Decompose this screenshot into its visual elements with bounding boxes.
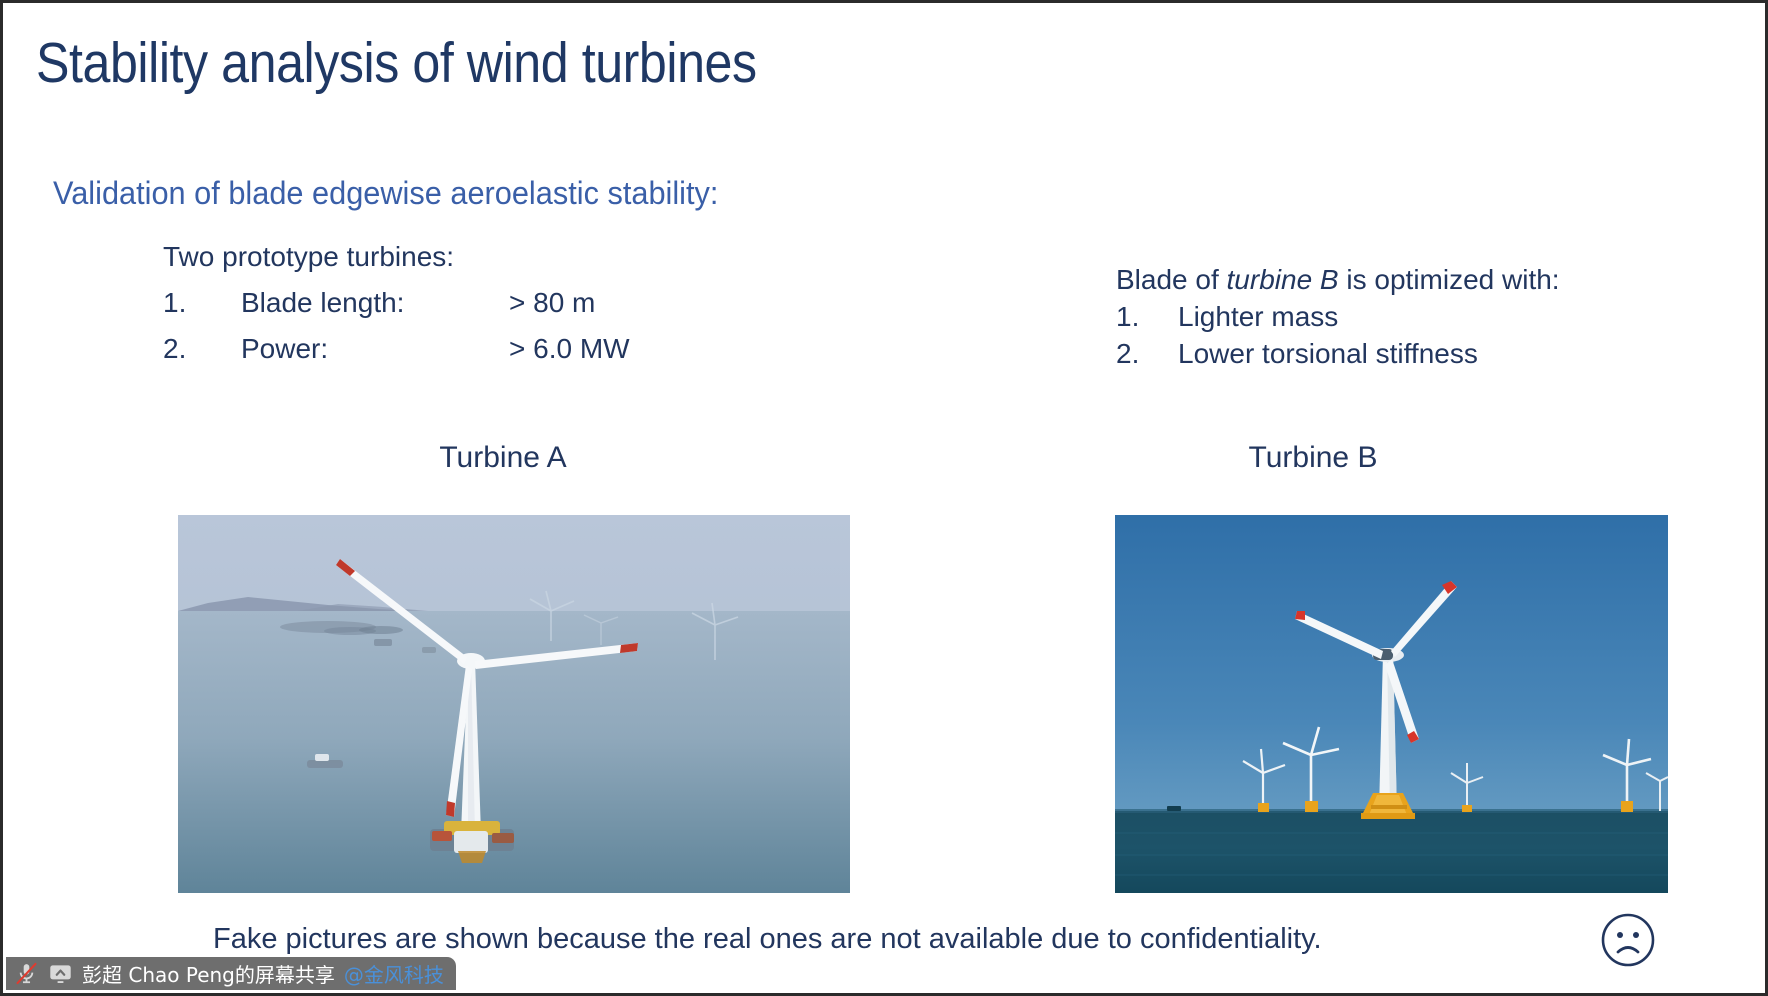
spec-number: 2. (163, 333, 241, 365)
caption-turbine-a: Turbine A (333, 441, 673, 475)
optimization-heading: Blade of turbine B is optimized with: (1116, 261, 1560, 298)
optimization-heading-emphasis: turbine B (1227, 264, 1339, 295)
page-title: Stability analysis of wind turbines (36, 35, 757, 92)
microphone-muted-glyph (14, 961, 39, 986)
spec-number: 1. (163, 287, 241, 319)
optimization-text: Lower torsional stiffness (1178, 335, 1478, 372)
slide-subtitle: Validation of blade edgewise aeroelastic… (53, 175, 718, 212)
shared-screen: Stability analysis of wind turbines Vali… (0, 0, 1768, 996)
optimization-number: 1. (1116, 298, 1178, 335)
optimization-heading-suffix: is optimized with: (1339, 264, 1560, 295)
optimization-text: Lighter mass (1178, 298, 1338, 335)
photo-turbine-b-graphic (1115, 515, 1668, 893)
spec-value: > 80 m (509, 287, 595, 319)
optimization-row: 1. Lighter mass (1116, 298, 1560, 335)
optimization-number: 2. (1116, 335, 1178, 372)
footer-note: Fake pictures are shown because the real… (213, 923, 1322, 956)
spec-row: 1. Blade length: > 80 m (163, 287, 630, 319)
photo-turbine-b (1115, 515, 1668, 893)
spec-label: Blade length: (241, 287, 509, 319)
caption-turbine-b: Turbine B (1143, 441, 1483, 475)
presentation-slide: Stability analysis of wind turbines Vali… (3, 3, 1765, 961)
optimization-block: Blade of turbine B is optimized with: 1.… (1116, 261, 1560, 373)
screen-share-taskbar[interactable]: 彭超 Chao Peng的屏幕共享 @金风科技 (6, 957, 456, 990)
photo-turbine-a-graphic (178, 515, 850, 893)
prototype-spec-block: Two prototype turbines: 1. Blade length:… (163, 241, 630, 365)
photo-turbine-a (178, 515, 850, 893)
screen-share-org-label: @金风科技 (344, 959, 444, 988)
screen-share-glyph (48, 961, 73, 986)
optimization-heading-prefix: Blade of (1116, 264, 1227, 295)
prototype-heading: Two prototype turbines: (163, 241, 630, 273)
sad-face-icon (1599, 911, 1657, 969)
spec-label: Power: (241, 333, 509, 365)
screen-share-user-label: 彭超 Chao Peng的屏幕共享 (82, 959, 335, 988)
spec-row: 2. Power: > 6.0 MW (163, 333, 630, 365)
screen-share-icon[interactable] (48, 961, 73, 986)
spec-value: > 6.0 MW (509, 333, 630, 365)
microphone-muted-icon[interactable] (14, 961, 39, 986)
optimization-row: 2. Lower torsional stiffness (1116, 335, 1560, 372)
sad-face-glyph (1599, 911, 1657, 969)
